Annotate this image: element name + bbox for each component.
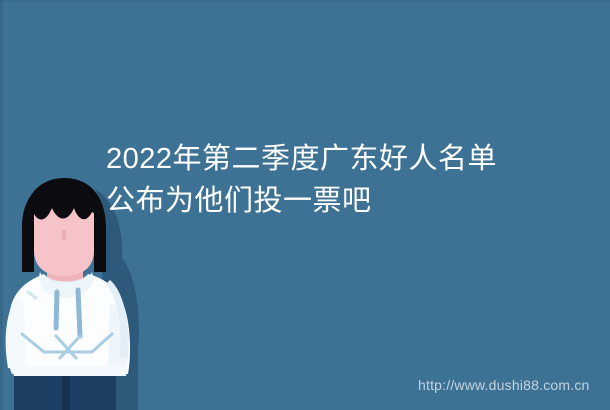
headline: 2022年第二季度广东好人名单 公布为他们投一票吧 (106, 138, 576, 222)
hoodie-hem (12, 366, 128, 376)
hoodie (6, 272, 130, 374)
headline-line-1: 2022年第二季度广东好人名单 (106, 138, 576, 180)
watermark-url: http://www.dushi88.com.cn (418, 377, 590, 393)
nose-mark (62, 230, 66, 240)
top-edge-vignette (0, 0, 610, 2)
headline-line-2: 公布为他们投一票吧 (106, 180, 576, 222)
banner-image: 2022年第二季度广东好人名单 公布为他们投一票吧 http://www.dus… (0, 0, 610, 410)
